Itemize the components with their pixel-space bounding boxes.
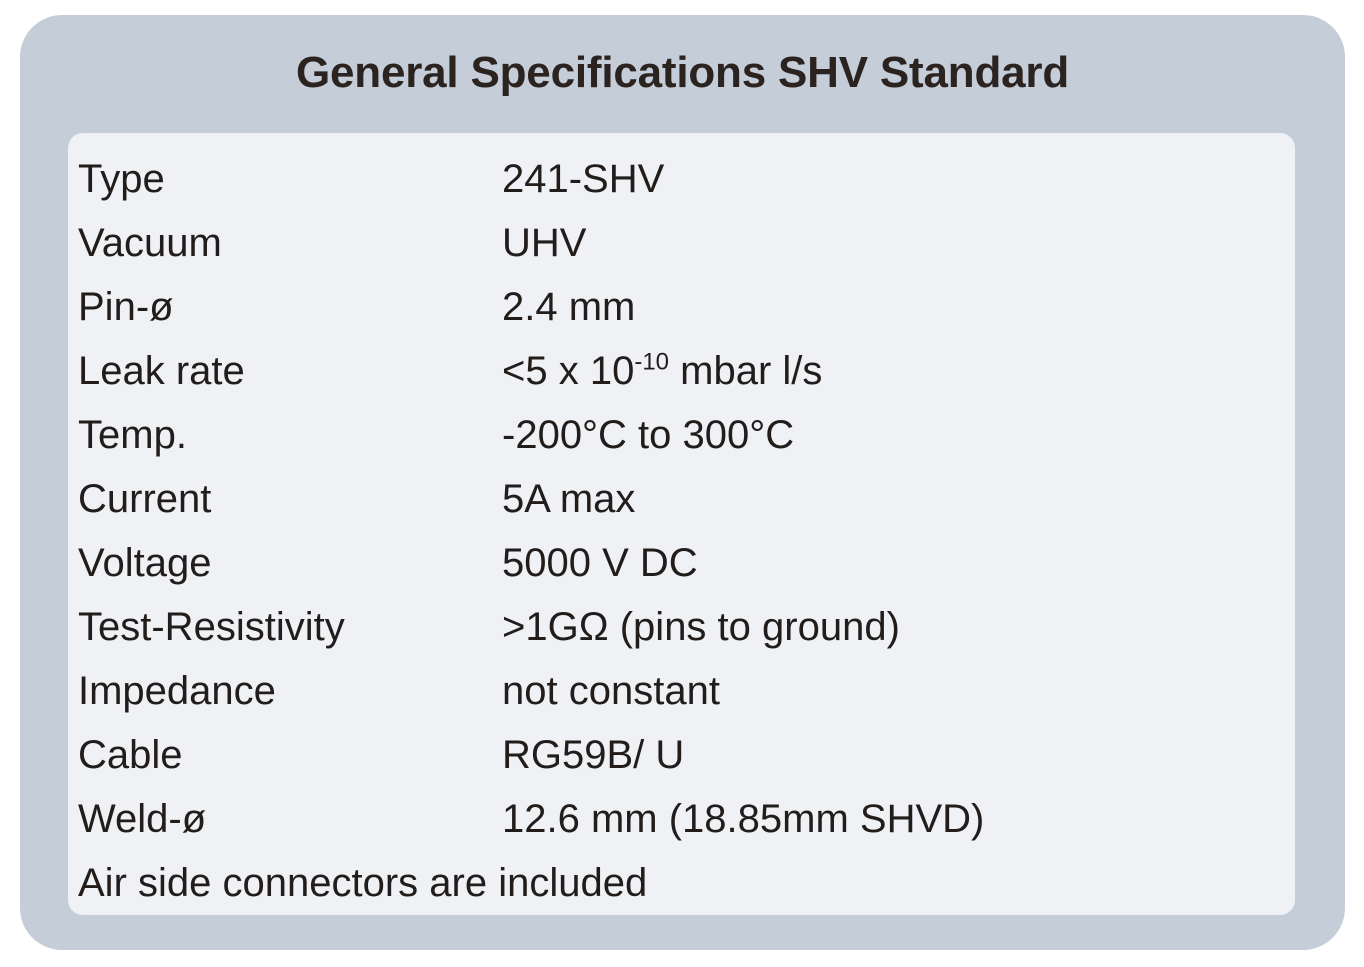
table-row: Current 5A max	[78, 467, 1295, 531]
table-row: Cable RG59B/ U	[78, 723, 1295, 787]
spec-value-cable: RG59B/ U	[502, 723, 684, 787]
table-row: Pin-ø 2.4 mm	[78, 275, 1295, 339]
specifications-card: General Specifications SHV Standard Type…	[20, 15, 1345, 950]
spec-value-temperature: -200°C to 300°C	[502, 403, 794, 467]
leak-rate-prefix: <5 x 10	[502, 349, 634, 393]
spec-label-test-resistivity: Test-Resistivity	[78, 595, 502, 659]
table-row-footnote: Air side connectors are included	[78, 851, 1295, 915]
spec-label-pin-diameter: Pin-ø	[78, 275, 502, 339]
spec-value-leak-rate: <5 x 10-10 mbar l/s	[502, 339, 822, 403]
spec-value-type: 241-SHV	[502, 147, 664, 211]
spec-label-weld-diameter: Weld-ø	[78, 787, 502, 851]
spec-value-impedance: not constant	[502, 659, 720, 723]
spec-value-pin-diameter: 2.4 mm	[502, 275, 635, 339]
table-row: Weld-ø 12.6 mm (18.85mm SHVD)	[78, 787, 1295, 851]
leak-rate-exponent: -10	[634, 349, 669, 376]
table-row: Temp. -200°C to 300°C	[78, 403, 1295, 467]
spec-label-cable: Cable	[78, 723, 502, 787]
spec-value-vacuum: UHV	[502, 211, 586, 275]
spec-label-temperature: Temp.	[78, 403, 502, 467]
spec-label-impedance: Impedance	[78, 659, 502, 723]
spec-label-leak-rate: Leak rate	[78, 339, 502, 403]
table-row: Type 241-SHV	[78, 147, 1295, 211]
table-row: Impedance not constant	[78, 659, 1295, 723]
spec-label-type: Type	[78, 147, 502, 211]
specifications-panel: Type 241-SHV Vacuum UHV Pin-ø 2.4 mm Lea…	[68, 133, 1295, 915]
table-row: Vacuum UHV	[78, 211, 1295, 275]
spec-value-current: 5A max	[502, 467, 635, 531]
table-row: Test-Resistivity >1GΩ (pins to ground)	[78, 595, 1295, 659]
spec-label-vacuum: Vacuum	[78, 211, 502, 275]
page-title: General Specifications SHV Standard	[20, 48, 1345, 98]
spec-value-voltage: 5000 V DC	[502, 531, 698, 595]
spec-value-weld-diameter: 12.6 mm (18.85mm SHVD)	[502, 787, 984, 851]
table-row: Voltage 5000 V DC	[78, 531, 1295, 595]
table-row: Leak rate <5 x 10-10 mbar l/s	[78, 339, 1295, 403]
leak-rate-suffix: mbar l/s	[669, 349, 822, 393]
spec-label-current: Current	[78, 467, 502, 531]
spec-footnote: Air side connectors are included	[78, 851, 647, 915]
spec-label-voltage: Voltage	[78, 531, 502, 595]
spec-value-test-resistivity: >1GΩ (pins to ground)	[502, 595, 900, 659]
